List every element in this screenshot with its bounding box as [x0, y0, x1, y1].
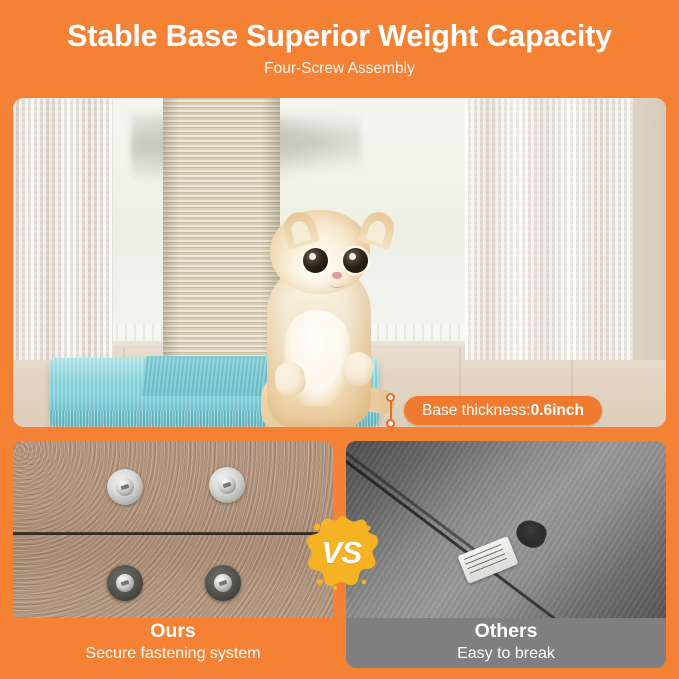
comparison-panel-ours: Ours Secure fastening system	[13, 441, 333, 668]
others-subtitle: Easy to break	[346, 643, 666, 664]
comparison-panel-others: Others Easy to break	[346, 441, 666, 668]
main-photo-panel	[13, 98, 666, 427]
vs-badge: VS	[303, 514, 380, 591]
page-title: Stable Base Superior Weight Capacity	[0, 17, 679, 55]
screw-head	[214, 574, 232, 592]
carpet-seam-line	[13, 532, 333, 535]
screw-head	[218, 476, 236, 494]
screw-slot	[121, 580, 130, 586]
curtain-left-folds	[13, 98, 113, 360]
curtain-right-folds	[465, 98, 635, 360]
product-infographic: Stable Base Superior Weight Capacity Fou…	[0, 0, 679, 679]
cat-ear-inner-right	[366, 219, 388, 244]
cat-ear-right	[358, 208, 398, 250]
cat-photo	[251, 202, 396, 427]
screw-bottom-left	[107, 565, 143, 601]
screw-top-left	[107, 469, 143, 505]
screw-head	[116, 478, 134, 496]
ours-title: Ours	[13, 618, 333, 643]
cat-eye-right	[343, 248, 368, 273]
screw-top-right	[209, 467, 245, 503]
base-thickness-badge: Base thickness:0.6inch	[404, 396, 602, 425]
screw-bottom-right	[205, 565, 241, 601]
others-title: Others	[346, 618, 666, 643]
cat-ear-inner-left	[289, 219, 311, 244]
cat-eye-glint-left	[309, 253, 316, 260]
ours-photo	[13, 441, 333, 618]
others-caption: Others Easy to break	[346, 618, 666, 668]
others-photo	[346, 441, 666, 618]
ours-caption: Ours Secure fastening system	[13, 618, 333, 668]
break-point	[512, 517, 549, 552]
cat-head	[270, 210, 370, 294]
cat-eye-glint-right	[349, 253, 356, 260]
cat-ear-left	[280, 208, 320, 250]
base-thickness-label: Base thickness:	[422, 402, 531, 419]
thickness-caliper-icon	[386, 393, 396, 428]
screw-slot	[219, 580, 228, 586]
cat-eye-left	[303, 248, 328, 273]
screw-head	[116, 574, 134, 592]
screw-slot	[121, 484, 130, 490]
cat-mouth	[329, 279, 345, 288]
base-thickness-value: 0.6inch	[531, 402, 584, 419]
page-subtitle: Four-Screw Assembly	[0, 59, 679, 79]
screw-slot	[223, 482, 232, 488]
vs-label: VS	[303, 535, 380, 570]
post-shadow-left	[163, 98, 179, 398]
header: Stable Base Superior Weight Capacity Fou…	[0, 0, 679, 98]
caliper-dot-top	[386, 393, 395, 402]
wall-right-edge	[633, 98, 666, 360]
caliper-dot-bottom	[386, 419, 395, 428]
ours-subtitle: Secure fastening system	[13, 643, 333, 664]
cat-nose	[332, 272, 342, 279]
